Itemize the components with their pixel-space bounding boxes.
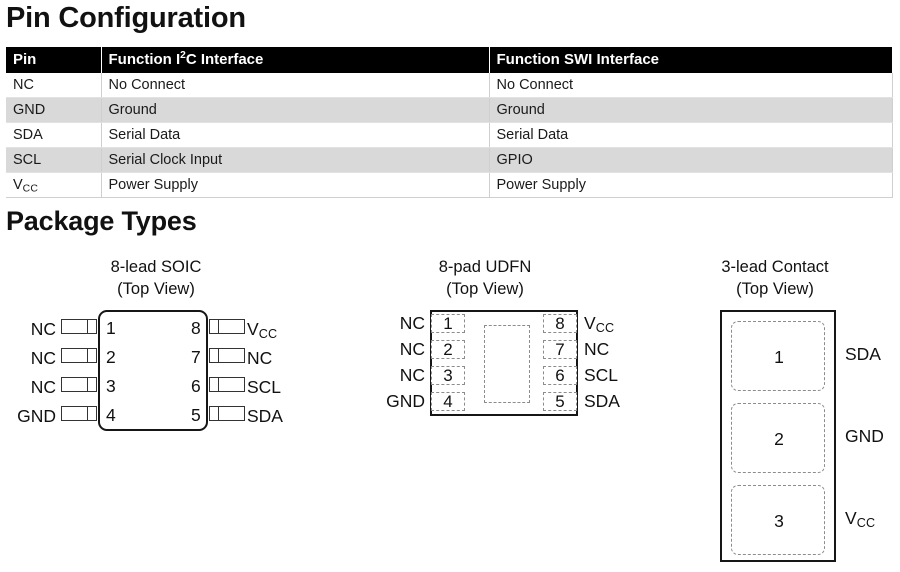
soic-pin-label-5: SDA (247, 408, 283, 426)
contact-pad-2: 2 (731, 403, 825, 473)
soic-lead-7 (208, 348, 245, 363)
soic-pin-label-8: VCC (247, 321, 277, 339)
lead-inner-segment (209, 377, 219, 392)
contact-pin-label-1: SDA (845, 346, 881, 364)
table-row: NC No Connect No Connect (6, 73, 892, 98)
udfn-pad-number-6: 6 (543, 366, 577, 385)
table-row: VCC Power Supply Power Supply (6, 173, 892, 198)
udfn-pin-label-8-base: V (584, 313, 596, 333)
soic-pin-label-7: NC (247, 350, 272, 368)
udfn-pin-label-2: NC (375, 341, 425, 359)
udfn-pad-number-2: 2 (431, 340, 465, 359)
cell-pin-name: NC (6, 73, 101, 98)
udfn-pin-label-6: SCL (584, 367, 618, 385)
soic-pin-number-4: 4 (106, 407, 116, 425)
contact-pad-1: 1 (731, 321, 825, 391)
soic-pin-label-4: GND (6, 408, 56, 426)
lead-outer-segment (218, 406, 245, 421)
pin-configuration-table: Pin Function I2C Interface Function SWI … (6, 47, 893, 198)
cell-swi-function: No Connect (489, 73, 892, 98)
column-header-swi-function: Function SWI Interface (489, 47, 892, 73)
soic-pin-number-6: 6 (191, 378, 201, 396)
lead-outer-segment (61, 319, 88, 334)
soic-pin-label-8-base: V (247, 319, 259, 339)
lead-inner-segment (87, 319, 97, 334)
contact-title-line2: (Top View) (670, 280, 880, 299)
package-diagram-contact: 3-lead Contact (Top View) 1 2 3 SDA GND … (690, 258, 900, 568)
lead-outer-segment (218, 377, 245, 392)
cell-i2c-function: Serial Clock Input (101, 148, 489, 173)
soic-lead-8 (208, 319, 245, 334)
contact-pad-3: 3 (731, 485, 825, 555)
udfn-package-body: 1 2 3 4 8 7 6 5 (430, 310, 578, 416)
cell-swi-function: Ground (489, 98, 892, 123)
soic-lead-3 (61, 377, 98, 392)
udfn-title-line2: (Top View) (340, 280, 630, 299)
lead-outer-segment (218, 319, 245, 334)
udfn-pin-label-4: GND (375, 393, 425, 411)
cell-swi-function: GPIO (489, 148, 892, 173)
udfn-pad-number-7: 7 (543, 340, 577, 359)
soic-pin-number-5: 5 (191, 407, 201, 425)
soic-pin-number-3: 3 (106, 378, 116, 396)
column-header-pin: Pin (6, 47, 101, 73)
udfn-pad-number-8: 8 (543, 314, 577, 333)
cell-pin-name-base: V (13, 177, 23, 193)
lead-inner-segment (209, 319, 219, 334)
table-row: GND Ground Ground (6, 98, 892, 123)
contact-pin-label-3-base: V (845, 508, 857, 528)
page-title-pin-configuration: Pin Configuration (6, 2, 246, 35)
cell-i2c-function: Power Supply (101, 173, 489, 198)
contact-pad-number-1: 1 (732, 322, 826, 392)
contact-package-body: 1 2 3 (720, 310, 836, 562)
udfn-pin-label-5: SDA (584, 393, 620, 411)
package-diagram-soic: 8-lead SOIC (Top View) NC NC NC GND VCC … (6, 258, 306, 458)
cell-i2c-function: No Connect (101, 73, 489, 98)
cell-swi-function: Serial Data (489, 123, 892, 148)
soic-lead-4 (61, 406, 98, 421)
lead-outer-segment (61, 377, 88, 392)
udfn-pin-label-7: NC (584, 341, 609, 359)
package-diagram-udfn: 8-pad UDFN (Top View) NC NC NC GND VCC N… (375, 258, 665, 448)
udfn-pin-label-1: NC (375, 315, 425, 333)
contact-pad-number-2: 2 (732, 404, 826, 474)
contact-pin-label-3: VCC (845, 510, 875, 528)
cell-pin-name: SDA (6, 123, 101, 148)
cell-swi-function: Power Supply (489, 173, 892, 198)
udfn-thermal-pad (484, 325, 530, 403)
contact-pin-label-2: GND (845, 428, 884, 446)
soic-lead-5 (208, 406, 245, 421)
udfn-title-line1: 8-pad UDFN (340, 258, 630, 277)
lead-inner-segment (87, 406, 97, 421)
soic-lead-2 (61, 348, 98, 363)
lead-inner-segment (209, 348, 219, 363)
column-header-i2c-prefix: Function I (109, 51, 181, 68)
lead-inner-segment (87, 348, 97, 363)
cell-i2c-function: Serial Data (101, 123, 489, 148)
contact-title-line1: 3-lead Contact (670, 258, 880, 277)
soic-title-line1: 8-lead SOIC (6, 258, 306, 277)
soic-pin-number-8: 8 (191, 320, 201, 338)
subscript-cc: CC (259, 327, 278, 341)
udfn-pin-label-8: VCC (584, 315, 614, 333)
subscript-cc: CC (23, 183, 38, 194)
udfn-pad-number-4: 4 (431, 392, 465, 411)
table-row: SCL Serial Clock Input GPIO (6, 148, 892, 173)
udfn-pad-number-1: 1 (431, 314, 465, 333)
lead-inner-segment (87, 377, 97, 392)
udfn-pin-label-3: NC (375, 367, 425, 385)
soic-lead-1 (61, 319, 98, 334)
cell-pin-name: VCC (6, 173, 101, 198)
lead-outer-segment (218, 348, 245, 363)
soic-title-line2: (Top View) (6, 280, 306, 299)
soic-pin-number-7: 7 (191, 349, 201, 367)
table-row: SDA Serial Data Serial Data (6, 123, 892, 148)
udfn-pad-number-5: 5 (543, 392, 577, 411)
cell-pin-name: GND (6, 98, 101, 123)
soic-lead-6 (208, 377, 245, 392)
column-header-i2c-suffix: C Interface (186, 51, 264, 68)
lead-outer-segment (61, 348, 88, 363)
soic-pin-label-3: NC (6, 379, 56, 397)
contact-pad-number-3: 3 (732, 486, 826, 556)
soic-pin-label-1: NC (6, 321, 56, 339)
soic-pin-label-6: SCL (247, 379, 281, 397)
section-title-package-types: Package Types (6, 206, 197, 237)
lead-outer-segment (61, 406, 88, 421)
udfn-pad-number-3: 3 (431, 366, 465, 385)
column-header-i2c-function: Function I2C Interface (101, 47, 489, 73)
cell-i2c-function: Ground (101, 98, 489, 123)
subscript-cc: CC (596, 321, 615, 335)
soic-pin-label-2: NC (6, 350, 56, 368)
subscript-cc: CC (857, 516, 876, 530)
cell-pin-name: SCL (6, 148, 101, 173)
lead-inner-segment (209, 406, 219, 421)
table-header-row: Pin Function I2C Interface Function SWI … (6, 47, 892, 73)
soic-pin-number-2: 2 (106, 349, 116, 367)
soic-pin-number-1: 1 (106, 320, 116, 338)
